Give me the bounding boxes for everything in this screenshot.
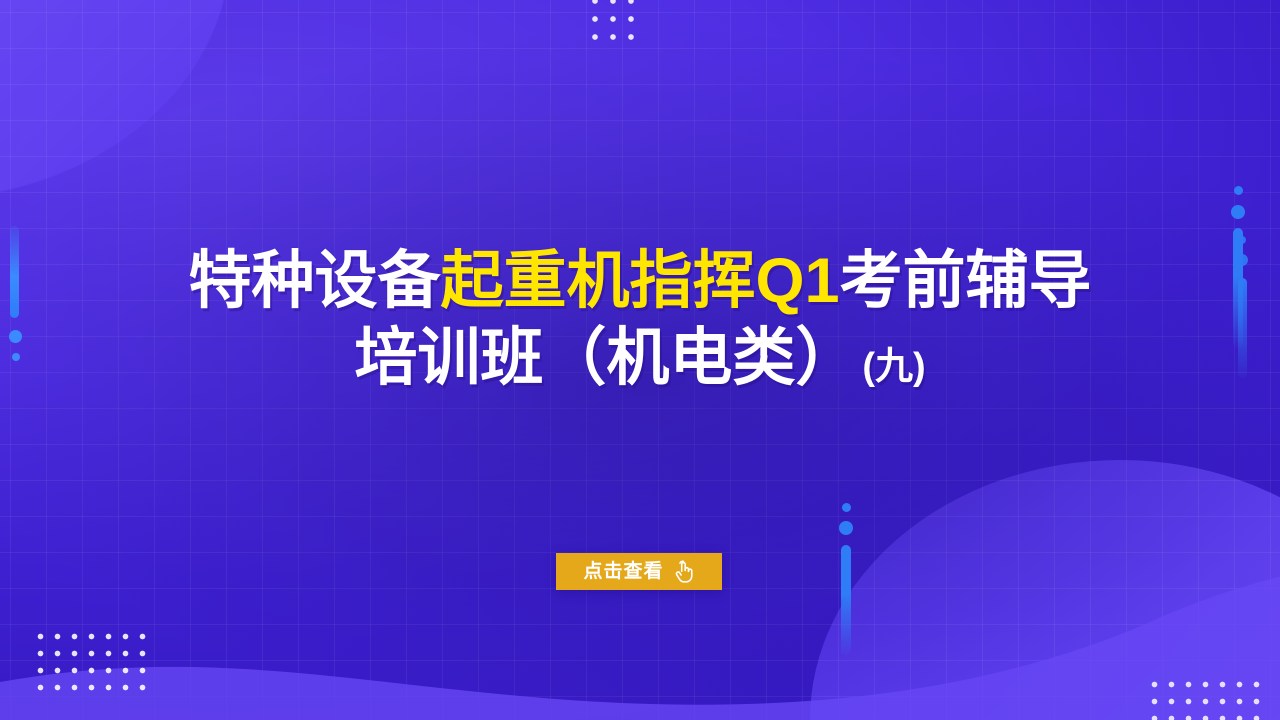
accent-dot-right-inner-small [1238,236,1246,244]
title-prefix: 特种设备 [188,246,440,316]
title-subject: 培训班（机电类） [354,323,858,393]
decorative-blob-bottom-right [810,460,1280,720]
dot-grid-top [586,0,640,44]
dot-grid-bottom-right [1146,676,1268,720]
poster-canvas: 特种设备起重机指挥Q1考前辅导 培训班（机电类）(九) 点击查看 [0,0,1280,720]
click-to-view-button[interactable]: 点击查看 [556,553,722,590]
title-line-1: 特种设备起重机指挥Q1考前辅导 [0,246,1280,317]
accent-dot-right-small [1234,186,1243,195]
title-suffix: 考前辅导 [840,246,1092,316]
pointing-hand-cursor-icon [673,560,695,584]
accent-dot-mid-large [839,521,853,535]
title-line-2: 培训班（机电类）(九) [0,323,1280,394]
accent-dot-right-large [1231,205,1245,219]
title-highlight: 起重机指挥Q1 [440,246,839,316]
cta-label: 点击查看 [583,562,663,581]
decorative-blob-top-left [0,0,230,200]
page-title: 特种设备起重机指挥Q1考前辅导 培训班（机电类）(九) [0,246,1280,394]
accent-bar-mid [841,545,851,655]
dot-grid-bottom-left [32,628,154,694]
title-part-number: (九) [862,346,925,388]
decorative-wave-bottom [0,570,1280,720]
accent-dot-mid-small [842,503,851,512]
